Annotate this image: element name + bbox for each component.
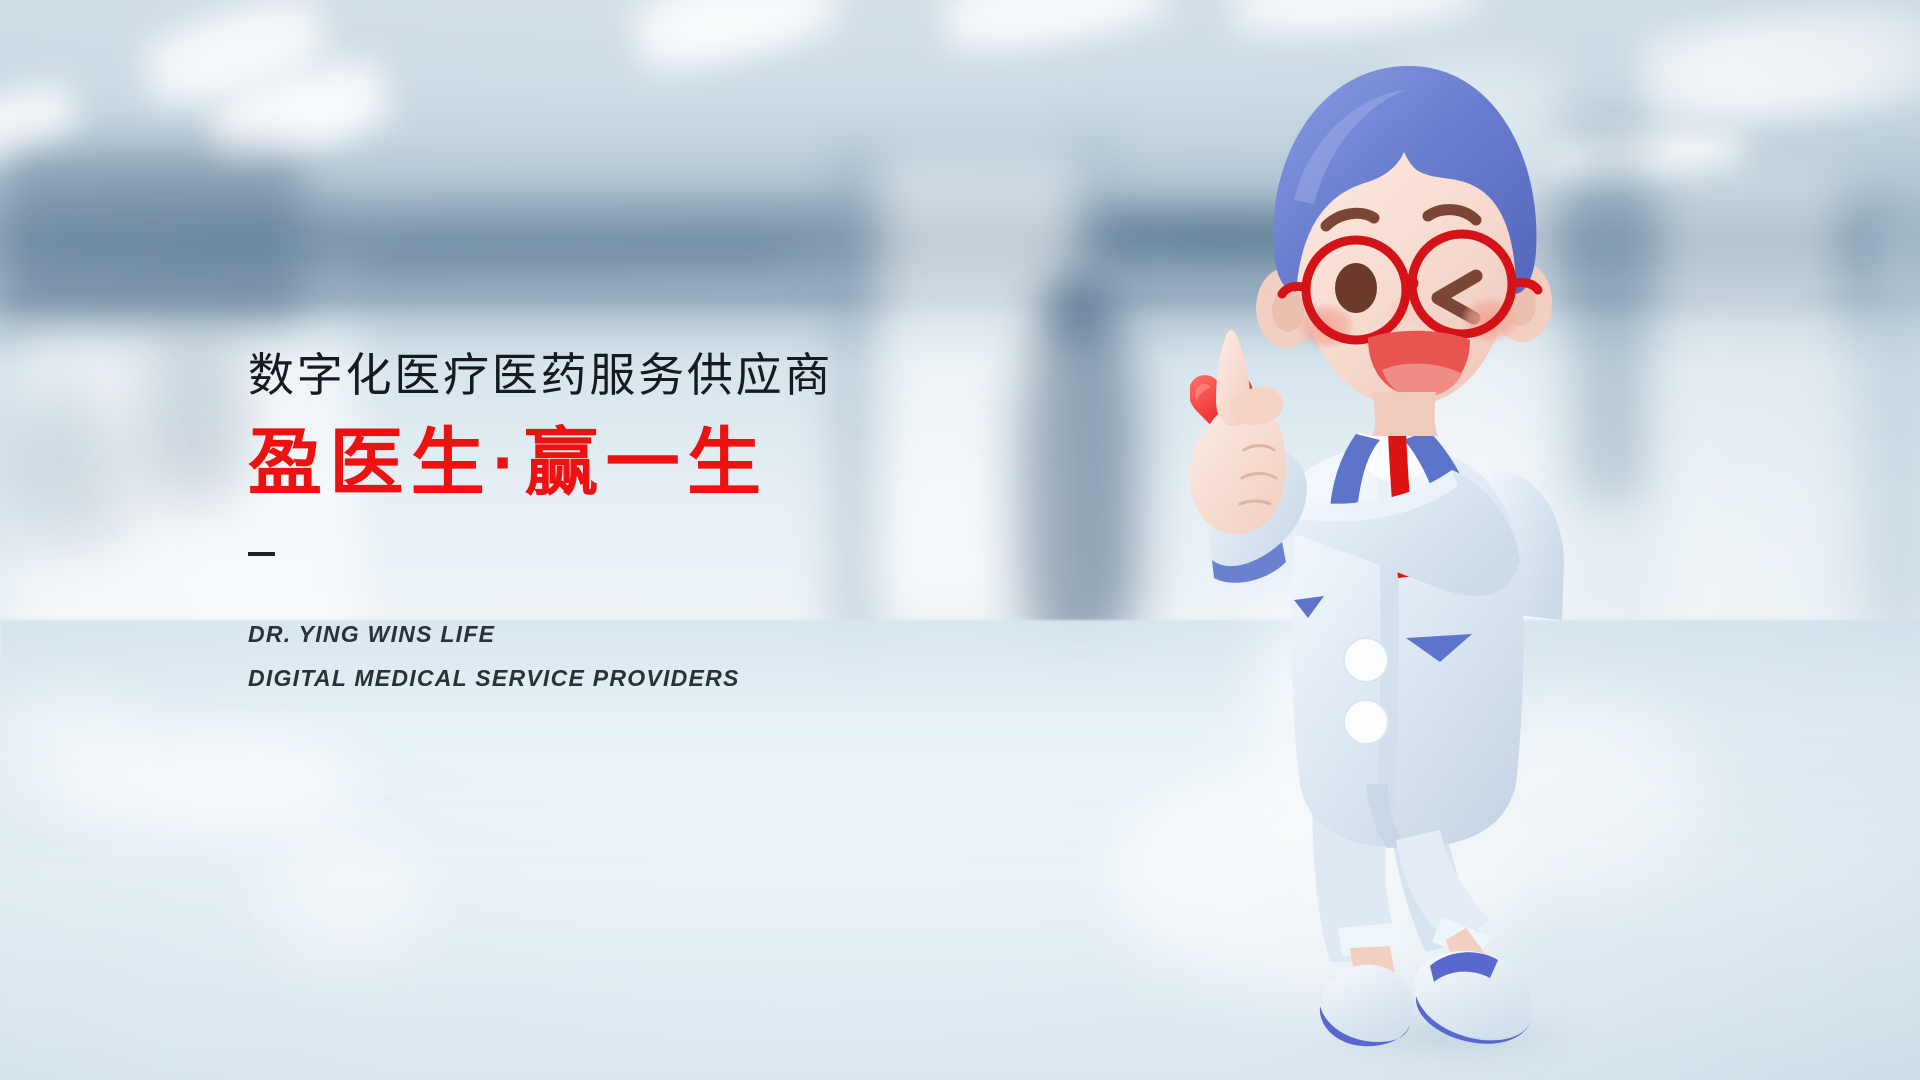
doctor-mascot [1190,40,1670,1060]
tagline-english-line2: DIGITAL MEDICAL SERVICE PROVIDERS [248,656,1008,700]
headline-block: 数字化医疗医药服务供应商 盈医生·赢一生 DR. YING WINS LIFE … [248,352,1008,700]
coat-button [1344,700,1388,744]
finger-heart-hand [1190,330,1307,583]
slogan-chinese: 盈医生·赢一生 [248,426,1008,500]
tagline-english-line1: DR. YING WINS LIFE [248,612,1008,656]
shoe [1323,965,1414,1038]
tagline-chinese: 数字化医疗医药服务供应商 [248,352,1008,398]
divider-dash [248,552,275,556]
head [1256,66,1552,436]
coat-button [1344,638,1388,682]
hero-banner: 数字化医疗医药服务供应商 盈医生·赢一生 DR. YING WINS LIFE … [0,0,1920,1080]
